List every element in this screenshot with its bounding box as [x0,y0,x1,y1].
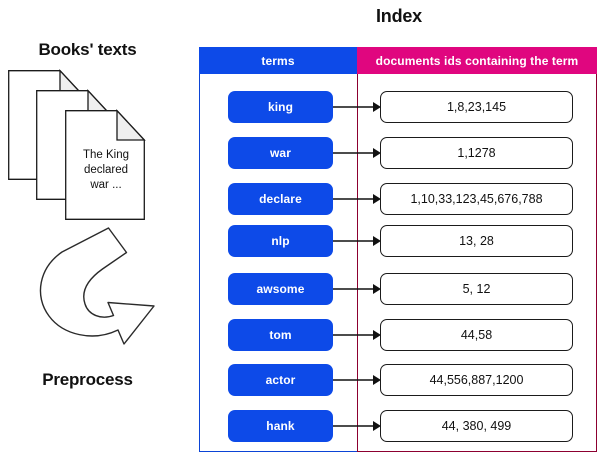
document-text-line-1: The King [65,148,147,163]
term-pill-hank[interactable]: hank [228,410,333,442]
document-ids-box-war[interactable]: 1,1278 [380,137,573,169]
document-ids-box-declare[interactable]: 1,10,33,123,45,676,788 [380,183,573,215]
index-row: nlp13, 28 [199,225,597,257]
books-preprocess-panel: Books' texts The King declared war ... [0,0,190,461]
term-pill-awsome[interactable]: awsome [228,273,333,305]
index-row: declare1,10,33,123,45,676,788 [199,183,597,215]
term-pill-nlp[interactable]: nlp [228,225,333,257]
index-row: hank44, 380, 499 [199,410,597,442]
arrow-right-icon [333,373,381,387]
books-texts-heading: Books' texts [0,40,175,60]
index-title: Index [200,6,598,27]
arrow-right-icon [333,146,381,160]
arrow-right-icon [333,328,381,342]
term-pill-war[interactable]: war [228,137,333,169]
term-pill-actor[interactable]: actor [228,364,333,396]
document-ids-box-actor[interactable]: 44,556,887,1200 [380,364,573,396]
arrow-right-icon [333,419,381,433]
arrow-right-icon [333,234,381,248]
document-ids-box-awsome[interactable]: 5, 12 [380,273,573,305]
document-sample-text: The King declared war ... [65,148,147,193]
document-ids-box-hank[interactable]: 44, 380, 499 [380,410,573,442]
index-table: terms documents ids containing the term … [199,47,597,452]
index-row: war1,1278 [199,137,597,169]
index-row: awsome5, 12 [199,273,597,305]
document-stack: The King declared war ... [8,70,173,230]
index-row: king1,8,23,145 [199,91,597,123]
document-ids-box-tom[interactable]: 44,58 [380,319,573,351]
term-pill-declare[interactable]: declare [228,183,333,215]
arrow-right-icon [333,282,381,296]
index-row: tom44,58 [199,319,597,351]
arrow-right-icon [333,100,381,114]
document-text-line-3: war ... [65,178,147,193]
document-text-line-2: declared [65,163,147,178]
index-row: actor44,556,887,1200 [199,364,597,396]
term-pill-tom[interactable]: tom [228,319,333,351]
document-ids-box-king[interactable]: 1,8,23,145 [380,91,573,123]
preprocess-heading: Preprocess [0,370,175,390]
curved-u-turn-arrow-icon [30,222,162,354]
document-ids-box-nlp[interactable]: 13, 28 [380,225,573,257]
term-pill-king[interactable]: king [228,91,333,123]
index-rows: king1,8,23,145war1,1278declare1,10,33,12… [199,47,597,452]
arrow-right-icon [333,192,381,206]
